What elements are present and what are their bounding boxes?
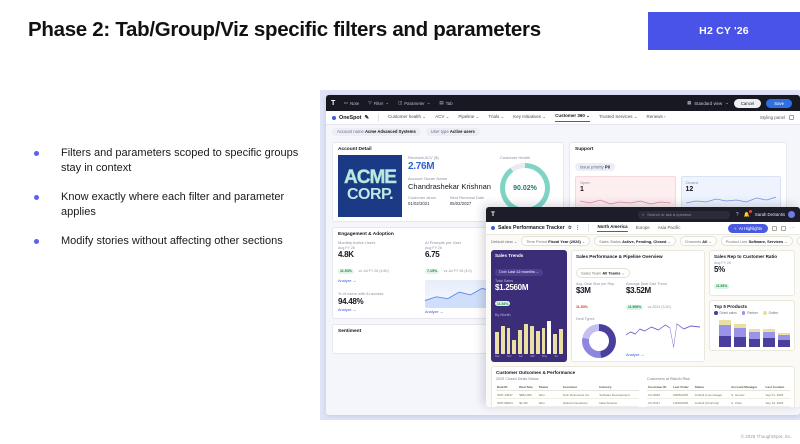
table-header-row: Customer ID Last Order Status Account Ma… — [647, 383, 790, 391]
nav-tab-renews[interactable]: Renews › — [647, 114, 666, 121]
issue-priority-chip[interactable]: Issue priority P0 — [575, 163, 615, 171]
brand-dot-icon — [491, 226, 495, 230]
view-selector[interactable]: ▦ Standard view ⌄ — [687, 100, 729, 106]
avg-deal-delta: 11.53% — [576, 305, 588, 309]
search-placeholder: Search or ask a question — [647, 212, 691, 217]
prompts-compare: vs Jul FY 26 (4.0) — [444, 269, 472, 273]
edit-pencil-icon[interactable]: ✎ — [364, 115, 369, 121]
deal-types-donut-chart — [582, 324, 616, 358]
pipeline-overview-card: Sales Performance & Pipeline Overview Sa… — [571, 250, 705, 362]
card-title: Account Detail — [338, 147, 558, 152]
more-icon[interactable]: ⋮ — [575, 225, 580, 231]
phase-badge: H2 CY '26 — [648, 12, 800, 50]
trend-value: $3.52M — [626, 286, 700, 295]
list-item: Filters and parameters scoped to specifi… — [34, 146, 314, 176]
nav-tab-trusted-services[interactable]: Trusted Services ⌄ — [599, 114, 638, 122]
closed-trend-chart — [686, 194, 777, 206]
card-title: Sales Rep to Customer Ratio — [714, 254, 790, 259]
table-header-row: Deal ID Deal Size Status Customer Indust… — [496, 383, 639, 391]
thoughtspot-logo-icon: T — [491, 211, 494, 218]
mau-compare: vs Jul FY 26 (4.6K) — [358, 269, 389, 273]
next-renewal-value: 05/02/2027 — [450, 201, 484, 206]
notifications-bell-icon[interactable]: 🔔 — [744, 212, 750, 218]
total-sales-delta: 11.54% — [495, 301, 510, 306]
closed-deals-table-wrap: 2025 Closed Deals Status Deal ID Deal Si… — [496, 377, 639, 407]
onespot-brand: OneSpot ✎ — [332, 115, 369, 121]
col-status[interactable]: Status — [694, 383, 730, 391]
layout-icon[interactable] — [772, 226, 777, 231]
mau-label: Monthly Active Users — [338, 240, 420, 245]
bullet-text: Know exactly where each filter and param… — [61, 190, 314, 220]
open-label: Open — [580, 180, 671, 185]
filter-chip-user-type[interactable]: User type Active users — [426, 128, 480, 136]
card-title: Customer Outcomes & Performance — [496, 370, 790, 375]
legend-partner: Partner — [742, 311, 758, 315]
by-month-label: By Month — [495, 313, 563, 317]
customer-health-gauge: 90.02% — [500, 163, 550, 213]
slide-footer: © 2025 ThoughtSpot, Inc. — [741, 434, 792, 439]
avg-deal-value: $3M — [576, 286, 622, 295]
nav-tab-acv[interactable]: ACV ⌄ — [435, 114, 449, 122]
divider — [588, 224, 589, 232]
star-icon[interactable]: ☆ — [568, 225, 573, 231]
save-button[interactable]: Save — [766, 99, 792, 108]
col-industry[interactable]: Industry — [598, 383, 639, 391]
total-sales-value: $1.2560M — [495, 283, 563, 292]
customer-since-value: 01/02/2021 — [408, 201, 436, 206]
col-last-order[interactable]: Last Order — [672, 383, 694, 391]
nav-tab-trials[interactable]: Trials ⌄ — [488, 114, 504, 122]
at-risk-table: Customer ID Last Order Status Account Ma… — [647, 383, 790, 407]
avg-deal-size-line-chart — [626, 315, 700, 351]
editor-toolbar: T ▭ Note ▽ Filter ⌄ ◫ Parameter ⌄ ▤ Tab … — [326, 95, 800, 111]
top-products-stacked-bar-chart — [714, 317, 790, 347]
toolbar-tab-button[interactable]: ▤ Tab — [439, 100, 452, 106]
nav-tab-customer-health[interactable]: Customer health ⌄ — [388, 114, 426, 122]
sales-team-chip[interactable]: Sales Team All Teams ⌄ — [576, 268, 630, 278]
by-month-bar-chart — [495, 320, 563, 354]
mau-delta: 11.53% — [338, 269, 354, 274]
analyze-link[interactable]: Analyze → — [338, 308, 420, 312]
bullet-text: Filters and parameters scoped to specifi… — [61, 146, 314, 176]
table-row: OPP-10547$860,000WonTech Resources Inc.S… — [496, 391, 639, 399]
prompts-delta: 7.15% — [425, 269, 439, 274]
toolbar-parameter-button[interactable]: ◫ Parameter ⌄ — [398, 100, 430, 106]
col-deal-id[interactable]: Deal ID — [496, 383, 518, 391]
page-title: Phase 2: Tab/Group/Viz specific filters … — [28, 18, 541, 42]
next-renewal-label: Next Renewal Date — [450, 195, 484, 200]
table-caption: 2025 Closed Deals Status — [496, 377, 639, 381]
analyze-link[interactable]: Analyze → — [338, 279, 420, 283]
closed-label: Closed — [686, 180, 777, 185]
card-title: Support — [575, 147, 781, 152]
tab-north-america[interactable]: North America — [597, 224, 627, 232]
nav-tab-pipeline[interactable]: Pipeline ⌄ — [458, 114, 479, 122]
closed-value: 12 — [686, 186, 777, 193]
deal-types-label: Deal Types — [576, 317, 622, 321]
ai-highlights-button[interactable]: ✧ AI Highlights — [728, 224, 768, 233]
col-last-contact[interactable]: Last Contact — [764, 383, 790, 391]
analyze-link[interactable]: Analyze → — [626, 353, 700, 357]
acme-logo: ACME CORP. — [338, 155, 402, 217]
thoughtspot-logo-icon: T — [331, 100, 335, 107]
legend-online: Online — [763, 311, 778, 315]
more-options-icon[interactable]: ⋯ — [790, 225, 795, 231]
top-products-legend: Direct sales Partner Online — [714, 311, 790, 315]
card-title: Sales Trends — [495, 253, 563, 258]
search-input[interactable]: ⌕ Search or ask a question — [638, 211, 730, 219]
notification-badge — [749, 210, 752, 213]
owner-label: Account Owner Name — [408, 176, 494, 181]
trend-delta: 11.508% — [626, 305, 643, 310]
by-month-axis-labels: SepNovJan MarMayJul — [495, 355, 563, 358]
at-risk-table-wrap: Customers at Risk/At Risk Customer ID La… — [647, 377, 790, 407]
divider — [378, 114, 379, 122]
owner-value: Chandrashekar Krishnan — [408, 182, 494, 191]
mau-value: 4.8K — [338, 250, 420, 259]
col-customer-id[interactable]: Customer ID — [647, 383, 672, 391]
open-trend-chart — [580, 194, 671, 206]
top-products-card: Top 5 Products Direct sales Partner Onli… — [709, 300, 795, 351]
closed-deals-table: Deal ID Deal Size Status Customer Indust… — [496, 383, 639, 407]
col-account-manager[interactable]: Account Manager — [730, 383, 764, 391]
col-status[interactable]: Status — [538, 383, 562, 391]
back-filter-chips: Account name Acme Advanced Systems User … — [326, 125, 800, 138]
customer-outcomes-card: Customer Outcomes & Performance 2025 Clo… — [491, 366, 795, 407]
date-range-chip[interactable]: Date Last 12 months ⌄ — [495, 269, 543, 276]
table-row: CU-841710/03/2025At Risk (Churned)A. Che… — [647, 399, 790, 407]
onespot-navbar: OneSpot ✎ Customer health ⌄ ACV ⌄ Pipeli… — [326, 111, 800, 125]
filter-chip-currency[interactable]: Currency USD ⌄ — [797, 236, 800, 246]
share-icon[interactable] — [781, 226, 786, 231]
renewal-acv-value: 2.76M — [408, 161, 494, 172]
list-item: Know exactly where each filter and param… — [34, 190, 314, 220]
ai-access-value: 94.48% — [338, 297, 420, 306]
front-topbar: T ⌕ Search or ask a question ? 🔔 Sarah D… — [486, 207, 800, 222]
legend-direct-sales: Direct sales — [714, 311, 737, 315]
nav-tab-key-initiatives[interactable]: Key Initiatives ⌄ — [513, 114, 546, 122]
customer-since-label: Customer since — [408, 195, 436, 200]
filter-chip-channels[interactable]: Channels All ⌄ — [680, 236, 717, 246]
search-icon: ⌕ — [642, 212, 644, 217]
filter-chip-sales-status[interactable]: Sales Status Active, Pending, Closed ⌄ — [594, 236, 676, 246]
front-page-title: Sales Performance Tracker ☆ ⋮ — [491, 225, 580, 231]
trend-compare: vs 2024 (3.2K) — [648, 305, 671, 309]
bullet-dot-icon — [34, 239, 39, 244]
brand-dot-icon — [332, 116, 336, 120]
styling-panel-icon[interactable] — [789, 115, 794, 120]
nav-tab-customer-360[interactable]: Customer 360 ⌄ — [555, 113, 590, 122]
tab-asia-pacific[interactable]: Asia Pacific — [658, 225, 681, 232]
ratio-value: 5% — [714, 265, 790, 274]
front-dashboard-body: Sales Trends Date Last 12 months ⌄ Total… — [486, 247, 800, 407]
sales-tracker-app-window: T ⌕ Search or ask a question ? 🔔 Sarah D… — [486, 207, 800, 407]
list-item: Modify stories without affecting other s… — [34, 234, 314, 249]
user-menu[interactable]: Sarah DeSantis — [755, 211, 795, 218]
default-view-selector[interactable]: Default view ⌄ — [491, 239, 517, 244]
avatar — [788, 211, 795, 218]
table-row: OPP-98204$1.2MWonGlobal InnovationsData … — [496, 399, 639, 407]
table-caption: Customers at Risk/At Risk — [647, 377, 790, 381]
onespot-brand-label: OneSpot — [339, 115, 361, 121]
sales-rep-ratio-card: Sales Rep to Customer Ratio Aug FY 26 5%… — [709, 250, 795, 296]
ai-access-label: % of users with AI access — [338, 291, 420, 296]
bullet-text: Modify stories without affecting other s… — [61, 234, 283, 249]
filter-chip-product-line[interactable]: Product Line Software, Services ⌄ — [721, 236, 793, 246]
customer-health-value: 90.02% — [505, 168, 545, 208]
customer-health-label: Customer Health — [500, 155, 558, 160]
col-deal-size[interactable]: Deal Size — [518, 383, 538, 391]
sales-trends-card: Sales Trends Date Last 12 months ⌄ Total… — [491, 250, 567, 362]
renewal-acv-label: Renewal ACV ($) — [408, 155, 494, 160]
open-value: 1 — [580, 186, 671, 193]
filter-chip-account-name[interactable]: Account name Acme Advanced Systems — [332, 128, 421, 136]
front-title-label: Sales Performance Tracker — [498, 225, 565, 231]
card-title: Sales Performance & Pipeline Overview — [576, 254, 700, 259]
help-icon[interactable]: ? — [736, 212, 739, 218]
bullet-dot-icon — [34, 195, 39, 200]
front-filter-chips: Default view ⌄ Time Period Fiscal Year (… — [486, 235, 800, 247]
card-title: Top 5 Products — [714, 304, 790, 309]
user-name: Sarah DeSantis — [755, 212, 785, 217]
toolbar-filter-button[interactable]: ▽ Filter ⌄ — [368, 100, 389, 106]
toolbar-note-button[interactable]: ▭ Note — [344, 100, 359, 106]
front-navbar: Sales Performance Tracker ☆ ⋮ North Amer… — [486, 222, 800, 235]
ratio-delta: 11.53% — [714, 284, 729, 289]
bullet-list: Filters and parameters scoped to specifi… — [34, 146, 314, 263]
bullet-dot-icon — [34, 151, 39, 156]
cancel-button[interactable]: Cancel — [734, 99, 761, 108]
tab-europe[interactable]: Europe — [636, 225, 650, 232]
styling-panel-label[interactable]: Styling panel — [760, 115, 785, 120]
table-row: CU-804009/05/2025At Risk (Low Usage)S. G… — [647, 391, 790, 399]
col-customer[interactable]: Customer — [562, 383, 599, 391]
filter-chip-time-period[interactable]: Time Period Fiscal Year (2026) ⌄ — [521, 236, 590, 246]
